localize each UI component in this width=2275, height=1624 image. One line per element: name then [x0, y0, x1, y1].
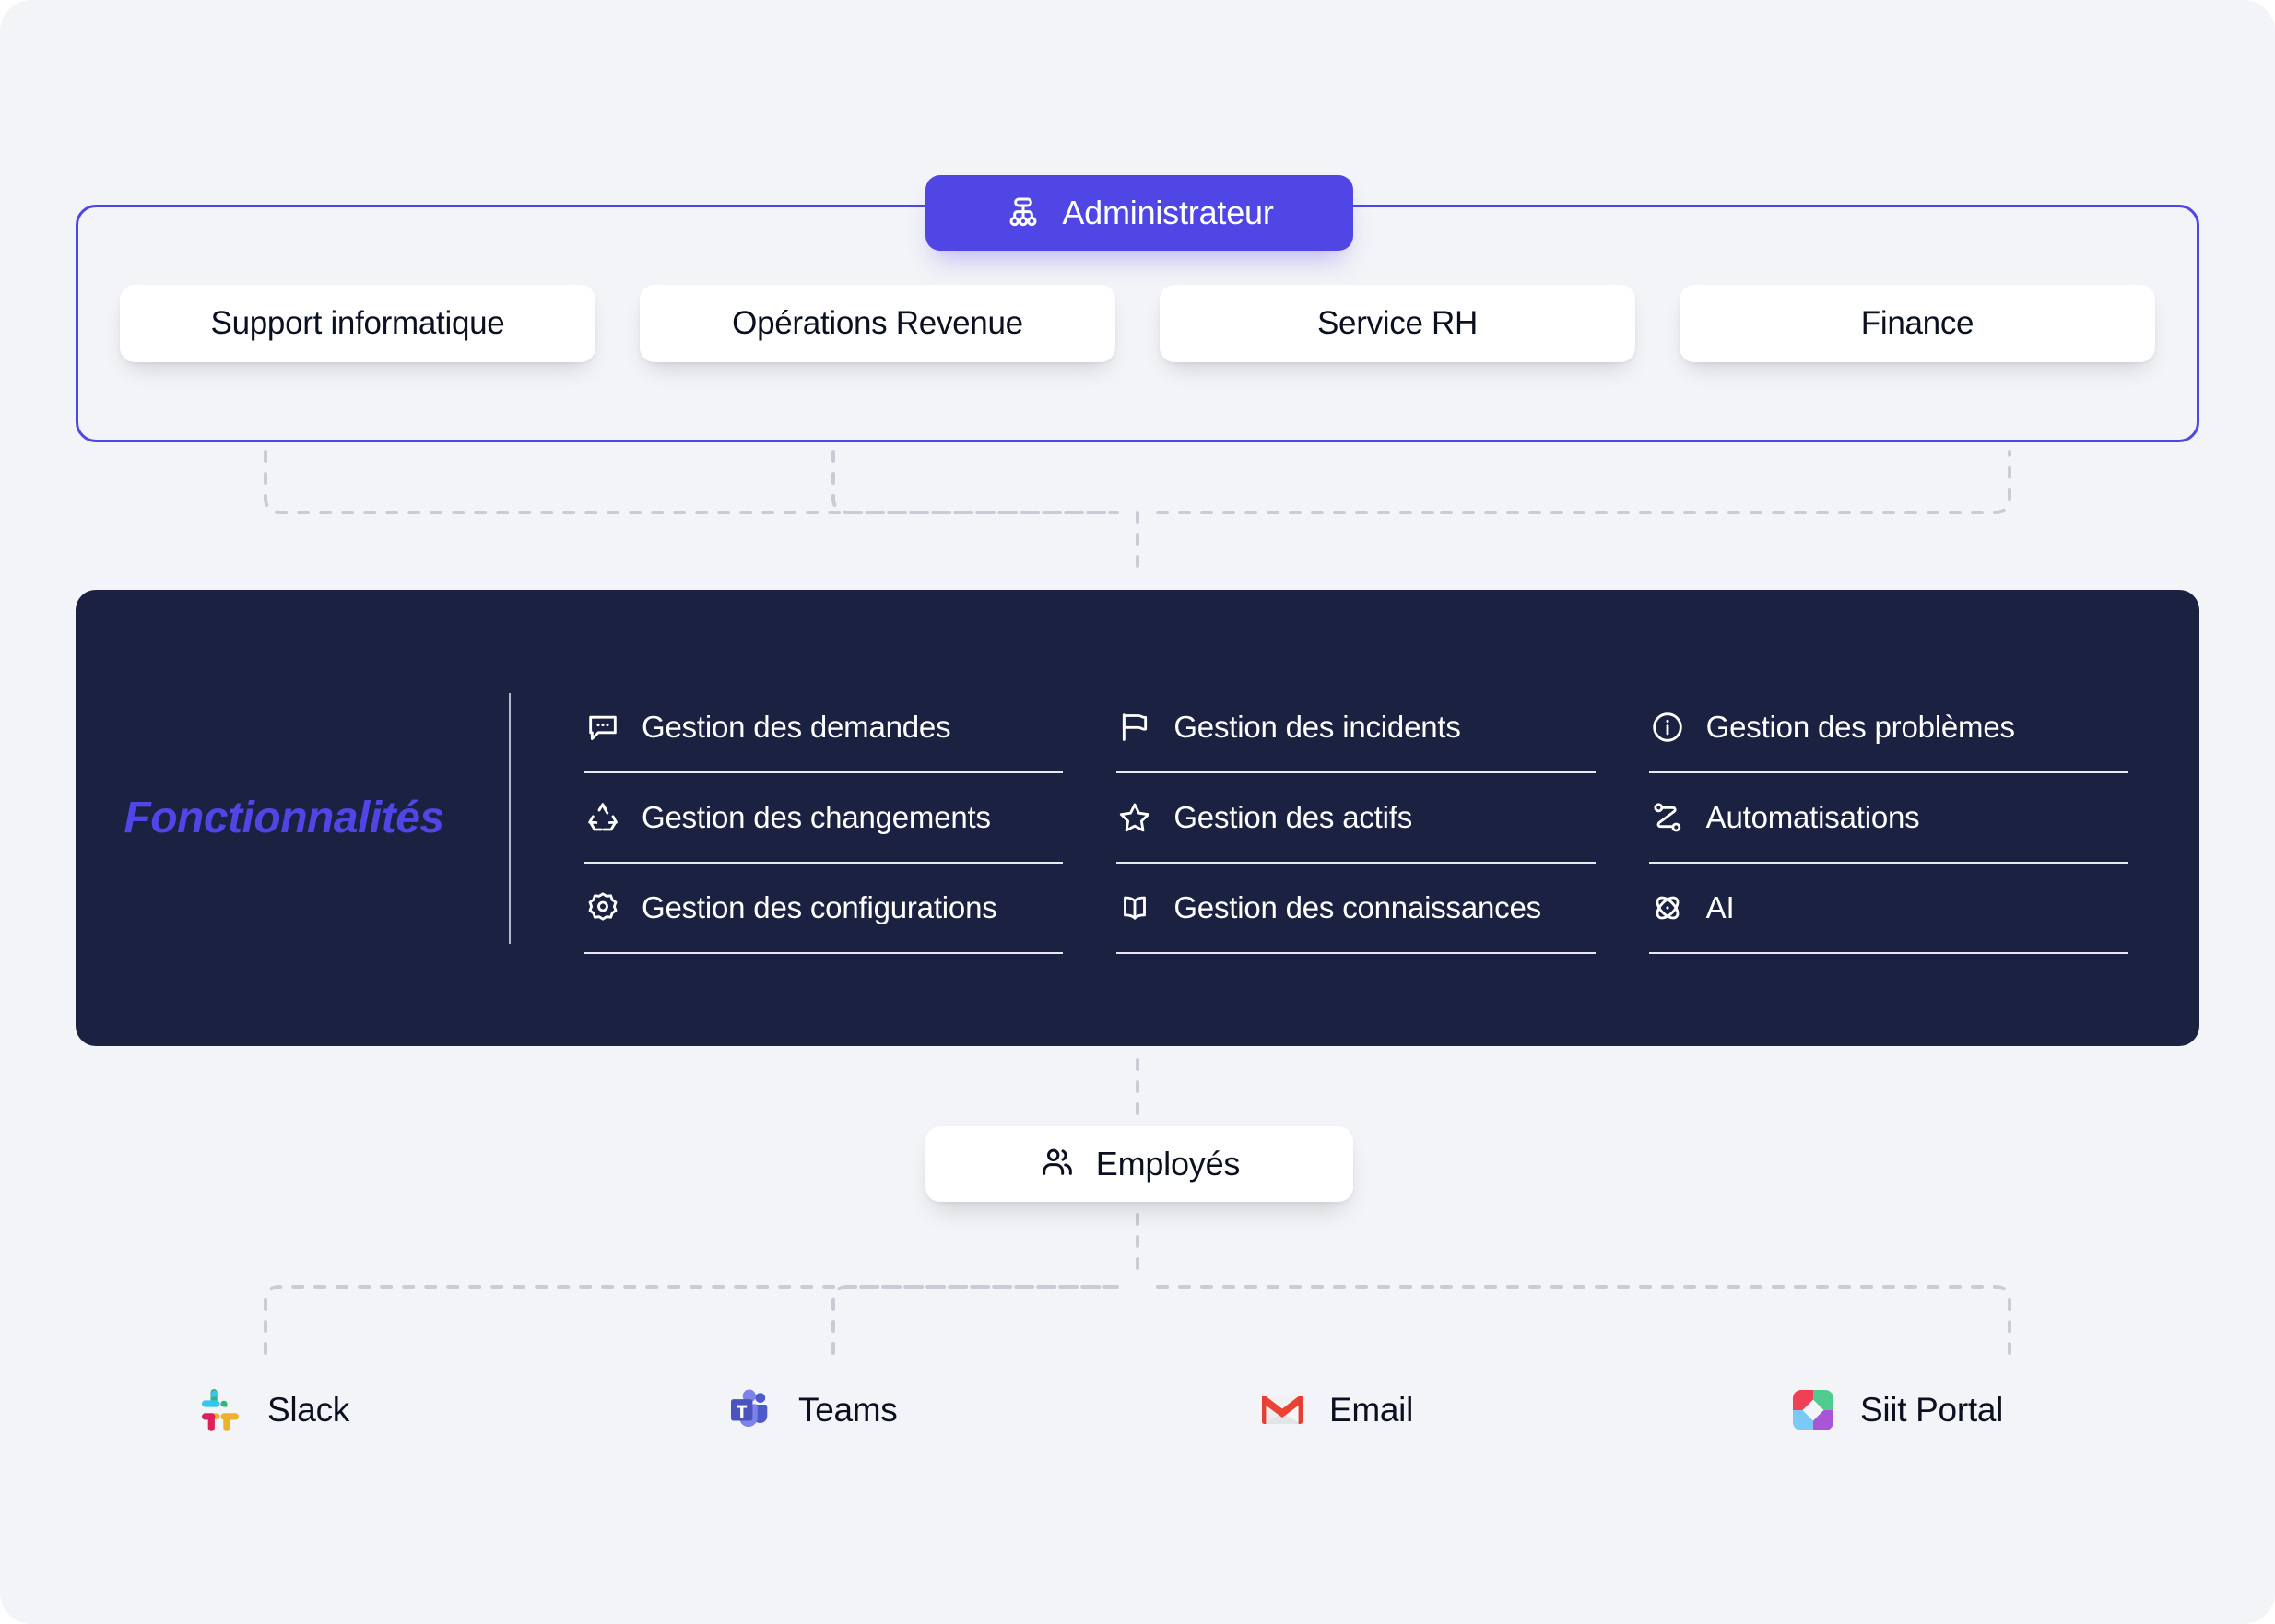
feature-label: Gestion des incidents [1173, 710, 1460, 745]
department-label: Opérations Revenue [732, 305, 1023, 342]
feature-label: Gestion des connaissances [1173, 890, 1541, 925]
users-icon [1039, 1144, 1076, 1185]
department-label: Support informatique [211, 305, 505, 342]
diagram-canvas: Support informatique Opérations Revenue … [0, 0, 2275, 1624]
microsoft-teams-logo [726, 1385, 776, 1435]
feature-item-gestion-des-changements[interactable]: Gestion des changements [584, 773, 1063, 864]
feature-label: Gestion des problèmes [1706, 710, 2015, 745]
open-book-icon [1116, 889, 1153, 926]
info-circle-icon [1649, 709, 1686, 746]
feature-label: AI [1706, 890, 1735, 925]
integration-label: Teams [798, 1391, 897, 1430]
integrations-row: Slack Teams [76, 1355, 2199, 1465]
feature-label: Automatisations [1706, 800, 1920, 835]
features-title: Fonctionnalités [76, 793, 509, 843]
feature-label: Gestion des demandes [642, 710, 950, 745]
recycle-icon [584, 799, 621, 836]
integration-siit-portal[interactable]: Siit Portal [1668, 1385, 2199, 1435]
administrator-badge-label: Administrateur [1062, 194, 1273, 232]
employees-badge[interactable]: Employés [925, 1126, 1353, 1202]
star-icon [1116, 799, 1153, 836]
features-grid: Gestion des demandes Gestion des inciden… [511, 683, 2199, 954]
integration-email[interactable]: Email [1137, 1385, 1668, 1435]
flag-icon [1116, 709, 1153, 746]
integration-label: Siit Portal [1860, 1391, 2003, 1430]
feature-item-gestion-des-configurations[interactable]: Gestion des configurations [584, 864, 1063, 954]
slack-logo [195, 1385, 245, 1435]
integration-slack[interactable]: Slack [76, 1385, 607, 1435]
department-card-support-informatique[interactable]: Support informatique [120, 285, 595, 362]
department-label: Finance [1861, 305, 1974, 342]
department-card-service-rh[interactable]: Service RH [1160, 285, 1635, 362]
feature-item-ai[interactable]: AI [1649, 864, 2128, 954]
department-label: Service RH [1317, 305, 1478, 342]
department-card-operations-revenue[interactable]: Opérations Revenue [640, 285, 1115, 362]
features-divider [509, 693, 511, 944]
administrator-badge[interactable]: Administrateur [925, 175, 1353, 251]
feature-item-automatisations[interactable]: Automatisations [1649, 773, 2128, 864]
integration-teams[interactable]: Teams [607, 1385, 1137, 1435]
siit-logo [1788, 1385, 1838, 1435]
integration-label: Slack [267, 1391, 349, 1430]
message-square-dots-icon [584, 709, 621, 746]
employees-badge-label: Employés [1096, 1145, 1240, 1183]
feature-item-gestion-des-connaissances[interactable]: Gestion des connaissances [1116, 864, 1595, 954]
department-card-finance[interactable]: Finance [1680, 285, 2155, 362]
feature-label: Gestion des configurations [642, 890, 997, 925]
automation-nodes-icon [1649, 799, 1686, 836]
gmail-logo [1257, 1385, 1307, 1435]
gear-icon [584, 889, 621, 926]
feature-item-gestion-des-problemes[interactable]: Gestion des problèmes [1649, 683, 2128, 773]
feature-item-gestion-des-incidents[interactable]: Gestion des incidents [1116, 683, 1595, 773]
integration-label: Email [1329, 1391, 1413, 1430]
atom-icon [1649, 889, 1686, 926]
org-chart-icon [1005, 194, 1042, 231]
feature-item-gestion-des-demandes[interactable]: Gestion des demandes [584, 683, 1063, 773]
features-panel: Fonctionnalités Gestion des demandes [76, 590, 2199, 1046]
feature-label: Gestion des actifs [1173, 800, 1412, 835]
feature-label: Gestion des changements [642, 800, 991, 835]
feature-item-gestion-des-actifs[interactable]: Gestion des actifs [1116, 773, 1595, 864]
